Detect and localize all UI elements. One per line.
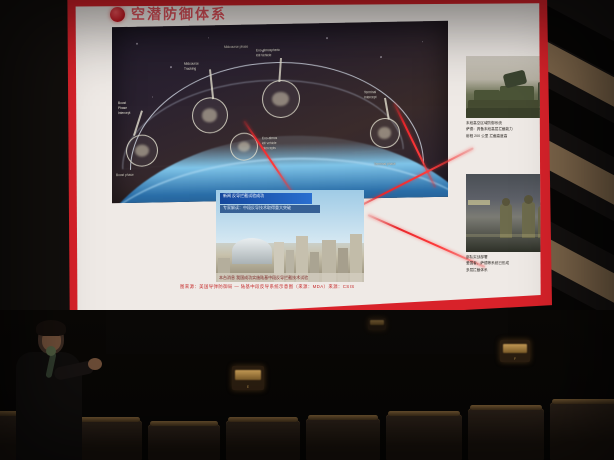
seat-5 <box>306 418 380 460</box>
page-title: 空潜防御体系 <box>131 4 227 24</box>
caption-line-3: 射程 200 公里 拦截高度高 <box>466 133 544 139</box>
seat-7 <box>468 408 544 460</box>
callout-boost-label: BoostPhaseIntercept <box>118 101 130 116</box>
photo-soldiers <box>466 174 544 252</box>
auditorium-scene: 空潜防御体系 BoostPhaseIntercept <box>0 0 614 460</box>
callout-terminal <box>370 118 400 149</box>
photo-news-broadcast: 新闻 反导拦截试验成功 专家解读：中段反导技术取得重大突破 本台消息 我国成功实… <box>216 190 364 282</box>
photo-launchers-caption: 末段高空区域防御系统 萨德：具备末段高层拦截能力 射程 200 公里 拦截高度高 <box>466 120 544 139</box>
phase-label-boost: Boost phase <box>116 173 134 178</box>
news-ticker: 本台消息 我国成功实施陆基中段反导拦截技术试验 <box>219 275 308 281</box>
callout-ekv-label: Exo-atmosphericKill Vehicle <box>256 48 280 58</box>
bullet-dot-icon <box>110 7 125 22</box>
row-marker-g <box>368 318 386 330</box>
row-marker-e: E <box>232 366 264 390</box>
row-marker-f: F <box>500 340 530 362</box>
callout-ekv <box>262 80 300 119</box>
seat-4 <box>226 420 300 460</box>
phase-label-midcourse: Midcourse phase <box>224 45 248 50</box>
seat-8 <box>550 402 614 460</box>
projection-screen: 空潜防御体系 BoostPhaseIntercept <box>68 2 544 324</box>
slide-caption: 图来源：美国导弹防御局 — 陆基中段反导系统示意图（来源：MDA）来源：CSIS <box>180 284 355 290</box>
phase-label-terminal: Terminal phase <box>374 162 396 167</box>
photo-launcher-vehicles <box>466 56 544 118</box>
microphone-head-icon <box>46 346 56 356</box>
callout-terminal-label: TerminalIntercept <box>364 90 376 100</box>
presenter <box>8 318 100 460</box>
slide-title-row: 空潜防御体系 <box>110 4 227 24</box>
photo-soldiers-caption: 部队实战部署 爱国者、萨德等系统已形成 多层拦截体系 <box>466 254 544 284</box>
callout-boost <box>126 134 158 167</box>
callout-midcourse-label: MidcourseTracking <box>184 62 199 72</box>
news-banner-line-1: 新闻 反导拦截试验成功 <box>223 194 264 199</box>
news-banner-line-2: 专家解读：中段反导技术取得重大突破 <box>223 206 291 211</box>
seat-6 <box>386 414 462 460</box>
callout-midcourse-sensor <box>192 97 228 134</box>
seat-3 <box>148 424 220 460</box>
presenter-hand <box>88 358 102 370</box>
caption-line-3: 多层拦截体系 <box>466 267 544 273</box>
presenter-hair <box>36 320 66 336</box>
